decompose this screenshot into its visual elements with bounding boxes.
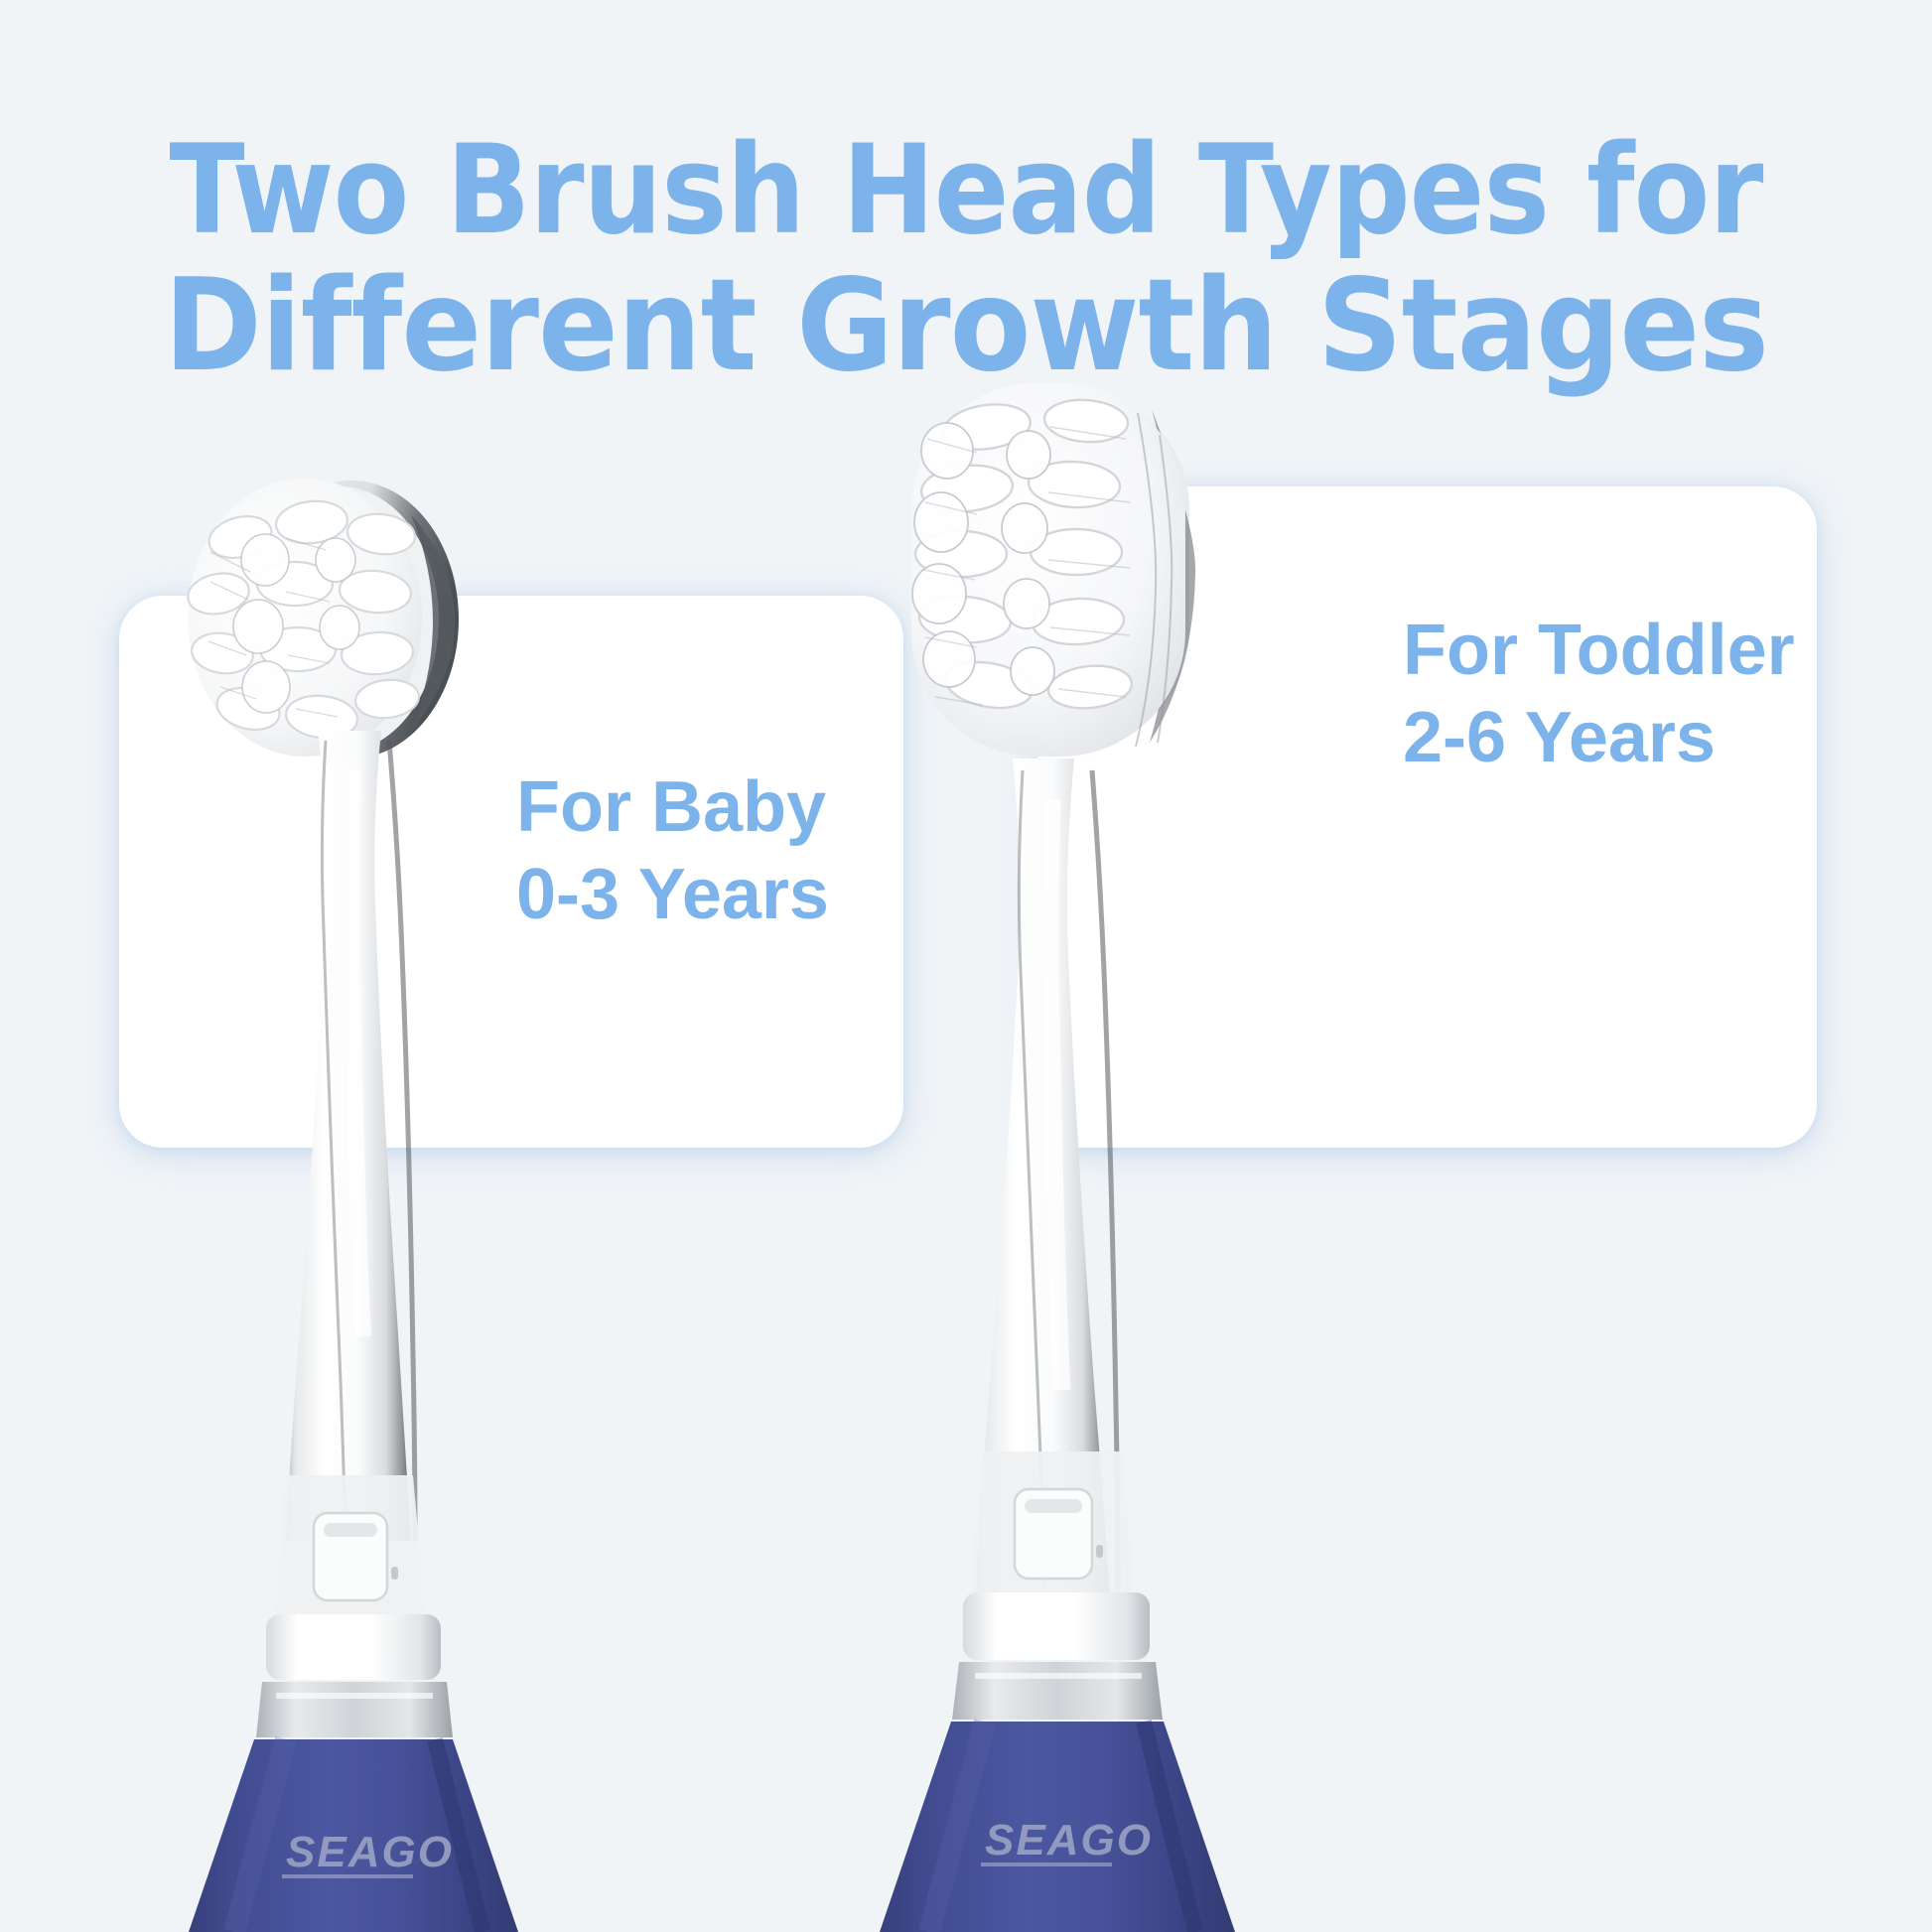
card-label-toddler: For Toddler 2-6 Years (1403, 608, 1795, 782)
page-title-line-1: Two Brush Head Types for (96, 128, 1835, 255)
brush-seal-ring (256, 1682, 453, 1737)
brush-collar (266, 1614, 441, 1680)
brush-bristles (185, 479, 422, 757)
brush-collar (963, 1592, 1150, 1660)
brush-bristles (911, 383, 1185, 757)
brush-seal-ring (952, 1662, 1163, 1720)
brand-logo-seago: SEAGO (985, 1816, 1153, 1864)
brush-coupling (276, 1475, 423, 1614)
brand-logo-seago: SEAGO (286, 1828, 454, 1876)
baby-toothbrush-image: SEAGO (91, 443, 608, 1932)
toddler-toothbrush-image: SEAGO (802, 344, 1358, 1932)
brush-coupling (971, 1451, 1132, 1592)
product-infographic: Two Brush Head Types for Different Growt… (0, 0, 1932, 1932)
